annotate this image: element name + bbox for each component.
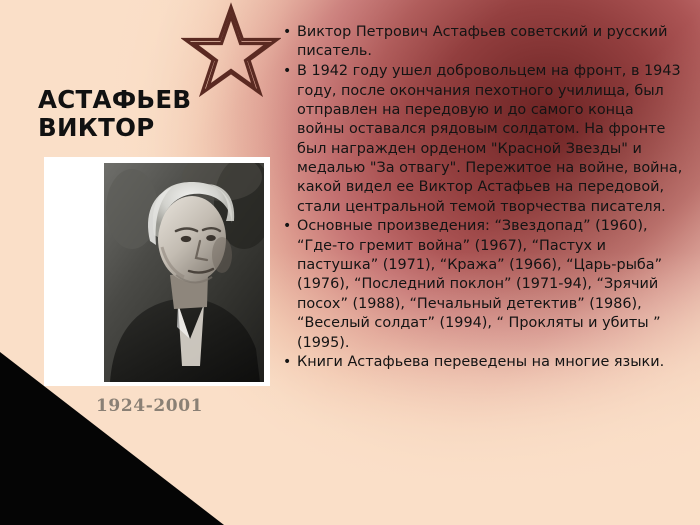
presentation-slide: АСТАФЬЕВ ВИКТОР	[0, 0, 700, 525]
list-item: Книги Астафьева переведены на многие язы…	[283, 353, 685, 372]
list-item: Основные произведения: “Звездопад” (1960…	[283, 217, 685, 352]
list-item: В 1942 году ушел добровольцем на фронт, …	[283, 62, 685, 217]
page-title-line-1: АСТАФЬЕВ	[38, 86, 268, 114]
content-bullet-list: Виктор Петрович Астафьев советский и рус…	[283, 23, 685, 373]
page-title: АСТАФЬЕВ ВИКТОР	[38, 86, 268, 142]
life-dates: 1924-2001	[96, 396, 276, 416]
portrait-photo-frame	[44, 157, 270, 386]
list-item: Виктор Петрович Астафьев советский и рус…	[283, 23, 685, 62]
page-title-line-2: ВИКТОР	[38, 114, 268, 142]
portrait-photo	[104, 163, 264, 382]
